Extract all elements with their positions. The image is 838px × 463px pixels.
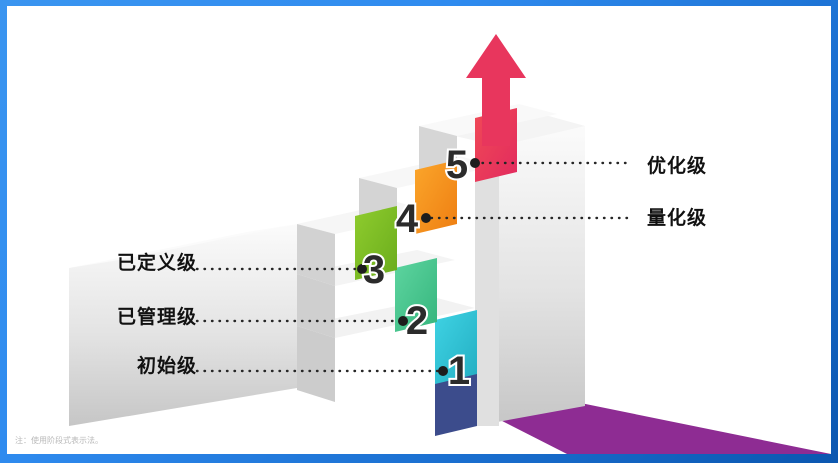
staircase-final <box>7 6 831 454</box>
level-number-3: 3 <box>363 248 385 292</box>
level-number-2: 2 <box>406 299 428 343</box>
slide-frame: CMMI五个能力成熟度等级 <box>0 0 838 463</box>
cmmi-staircase-diagram: 5 4 3 2 1 <box>7 6 831 454</box>
level-label-1: 初始级 <box>17 351 197 378</box>
level-label-5: 优化级 <box>647 151 707 178</box>
level-label-2: 已管理级 <box>17 302 197 329</box>
dot-5 <box>470 158 480 168</box>
tower-left <box>475 146 499 426</box>
level-number-1: 1 <box>448 349 470 393</box>
dot-4 <box>421 213 431 223</box>
slide-canvas: CMMI五个能力成熟度等级 <box>7 6 831 454</box>
level-number-4: 4 <box>396 197 419 241</box>
footnote: 注：使用阶段式表示法。 <box>15 435 103 446</box>
level-label-3: 已定义级 <box>17 248 197 275</box>
dot-1 <box>438 366 448 376</box>
level-number-5: 5 <box>446 143 468 187</box>
level-label-4: 量化级 <box>647 203 707 230</box>
